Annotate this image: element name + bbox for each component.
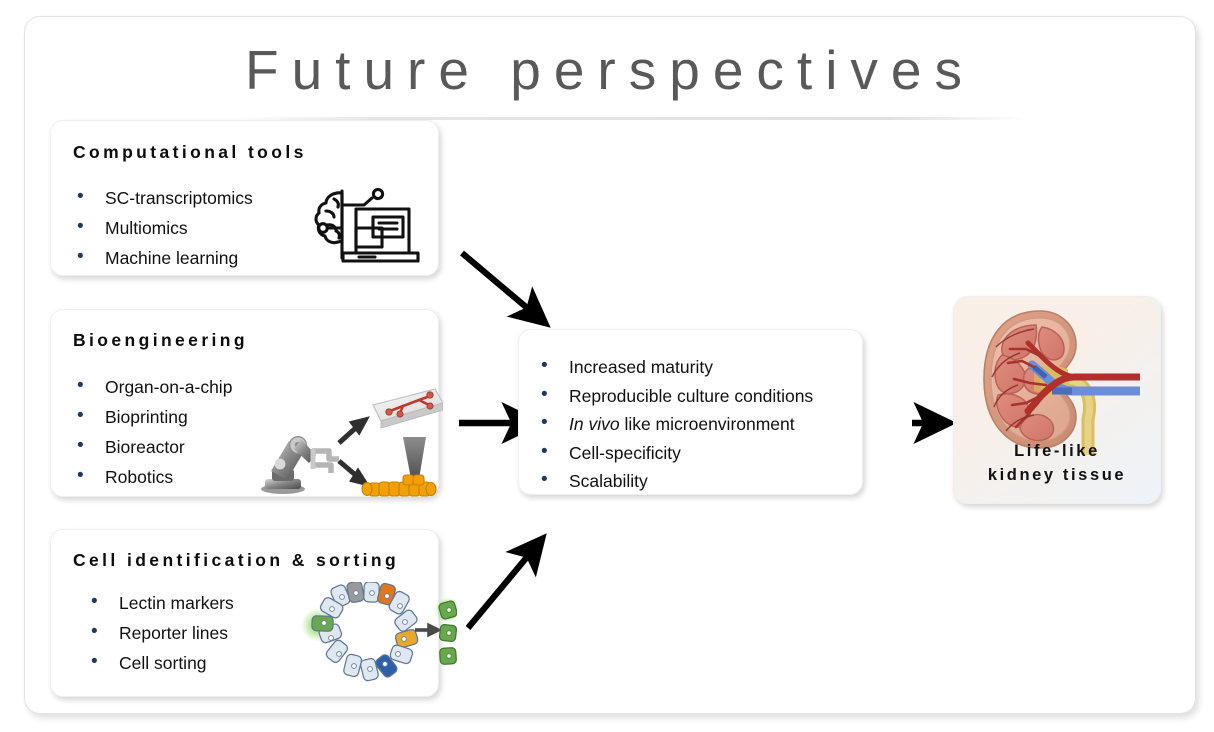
card-outcomes: Increased maturity Reproducible culture … [518,329,863,495]
arrow-cell-identification-to-outcomes [465,529,565,633]
robotic-arm-bioprinting-icon [253,383,443,501]
list-item: Organ-on-a-chip [69,372,232,402]
kidney-caption-line1: Life-like [954,439,1160,463]
card-title-bioengineering: Bioengineering [73,330,248,351]
list-item: Bioprinting [69,402,232,432]
list-item: Increased maturity [533,353,813,382]
list-item: Cell-specificity [533,439,813,468]
bullet-list-computational-tools: SC-transcriptomics Multiomics Machine le… [69,183,253,273]
page-title: Future perspectives [25,39,1195,101]
kidney-caption: Life-like kidney tissue [954,439,1160,487]
card-title-computational-tools: Computational tools [73,142,307,163]
card-kidney-outcome: Life-like kidney tissue [953,296,1161,504]
list-item: Robotics [69,462,232,492]
kidney-cross-section-icon [976,307,1140,455]
list-item: Lectin markers [83,588,234,618]
list-item: In vivo like microenvironment [533,410,813,439]
list-item: Reproducible culture conditions [533,382,813,411]
list-item: Reporter lines [83,618,234,648]
list-item: Scalability [533,467,813,495]
list-item: Multiomics [69,213,253,243]
arrow-computational-to-outcomes [459,249,563,337]
list-item: Bioreactor [69,432,232,462]
list-item: Machine learning [69,243,253,273]
list-item: Cell sorting [83,648,234,678]
list-item-text: like microenvironment [620,414,795,434]
list-item: SC-transcriptomics [69,183,253,213]
brain-computer-icon [312,181,420,273]
list-item-emphasis: In vivo [569,414,620,434]
card-title-cell-identification-sorting: Cell identification & sorting [73,550,399,571]
bullet-list-bioengineering: Organ-on-a-chip Bioprinting Bioreactor R… [69,372,232,492]
bullet-list-outcomes: Increased maturity Reproducible culture … [533,353,813,495]
bullet-list-cell-identification: Lectin markers Reporter lines Cell sorti… [83,588,234,678]
figure-frame: Future perspectives Computational tools … [24,16,1196,714]
kidney-caption-line2: kidney tissue [954,463,1160,487]
cell-sorting-icon [297,582,457,690]
